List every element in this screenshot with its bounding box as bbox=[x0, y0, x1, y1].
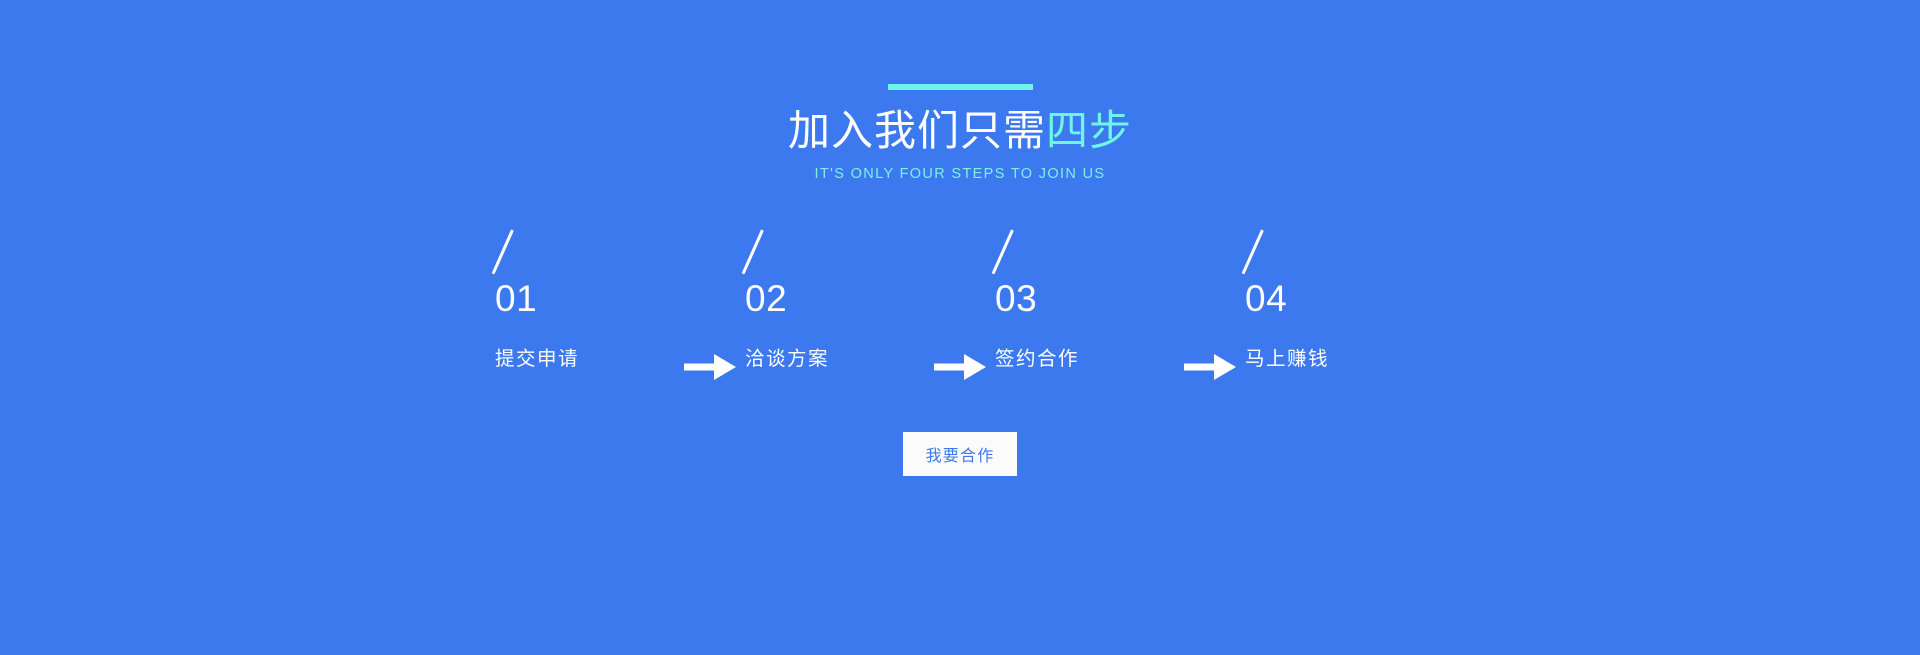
step-item-04: 04 马上赚钱 bbox=[1245, 228, 1425, 371]
accent-rule-divider bbox=[888, 84, 1033, 90]
section-heading: 加入我们只需四步 IT'S ONLY FOUR STEPS TO JOIN US bbox=[788, 84, 1132, 182]
slash-icon bbox=[997, 228, 1037, 272]
steps-row: 01 提交申请 02 洽谈方案 03 签约合作 bbox=[495, 228, 1425, 380]
step-item-01: 01 提交申请 bbox=[495, 228, 675, 371]
arrow-right-icon bbox=[684, 354, 736, 380]
step-number: 01 bbox=[495, 280, 537, 317]
cta-container: 我要合作 bbox=[0, 432, 1920, 476]
step-number: 02 bbox=[745, 280, 787, 317]
page-title: 加入我们只需四步 bbox=[788, 108, 1132, 153]
slash-icon bbox=[1247, 228, 1287, 272]
step-label: 签约合作 bbox=[995, 342, 1079, 371]
step-separator-1 bbox=[675, 354, 745, 380]
step-number: 03 bbox=[995, 280, 1037, 317]
page-subtitle: IT'S ONLY FOUR STEPS TO JOIN US bbox=[815, 166, 1106, 182]
arrow-right-icon bbox=[1184, 354, 1236, 380]
slash-icon bbox=[747, 228, 787, 272]
arrow-right-icon bbox=[934, 354, 986, 380]
step-separator-3 bbox=[1175, 354, 1245, 380]
join-us-steps-section: 加入我们只需四步 IT'S ONLY FOUR STEPS TO JOIN US… bbox=[0, 0, 1920, 655]
step-separator-2 bbox=[925, 354, 995, 380]
step-label: 马上赚钱 bbox=[1245, 342, 1329, 371]
slash-icon bbox=[497, 228, 537, 272]
page-title-accent: 四步 bbox=[1046, 107, 1132, 154]
step-item-02: 02 洽谈方案 bbox=[745, 228, 925, 371]
cooperate-button[interactable]: 我要合作 bbox=[903, 432, 1017, 476]
step-number: 04 bbox=[1245, 280, 1287, 317]
page-title-main: 加入我们只需 bbox=[788, 107, 1046, 154]
step-label: 提交申请 bbox=[495, 342, 579, 371]
step-item-03: 03 签约合作 bbox=[995, 228, 1175, 371]
step-label: 洽谈方案 bbox=[745, 342, 829, 371]
